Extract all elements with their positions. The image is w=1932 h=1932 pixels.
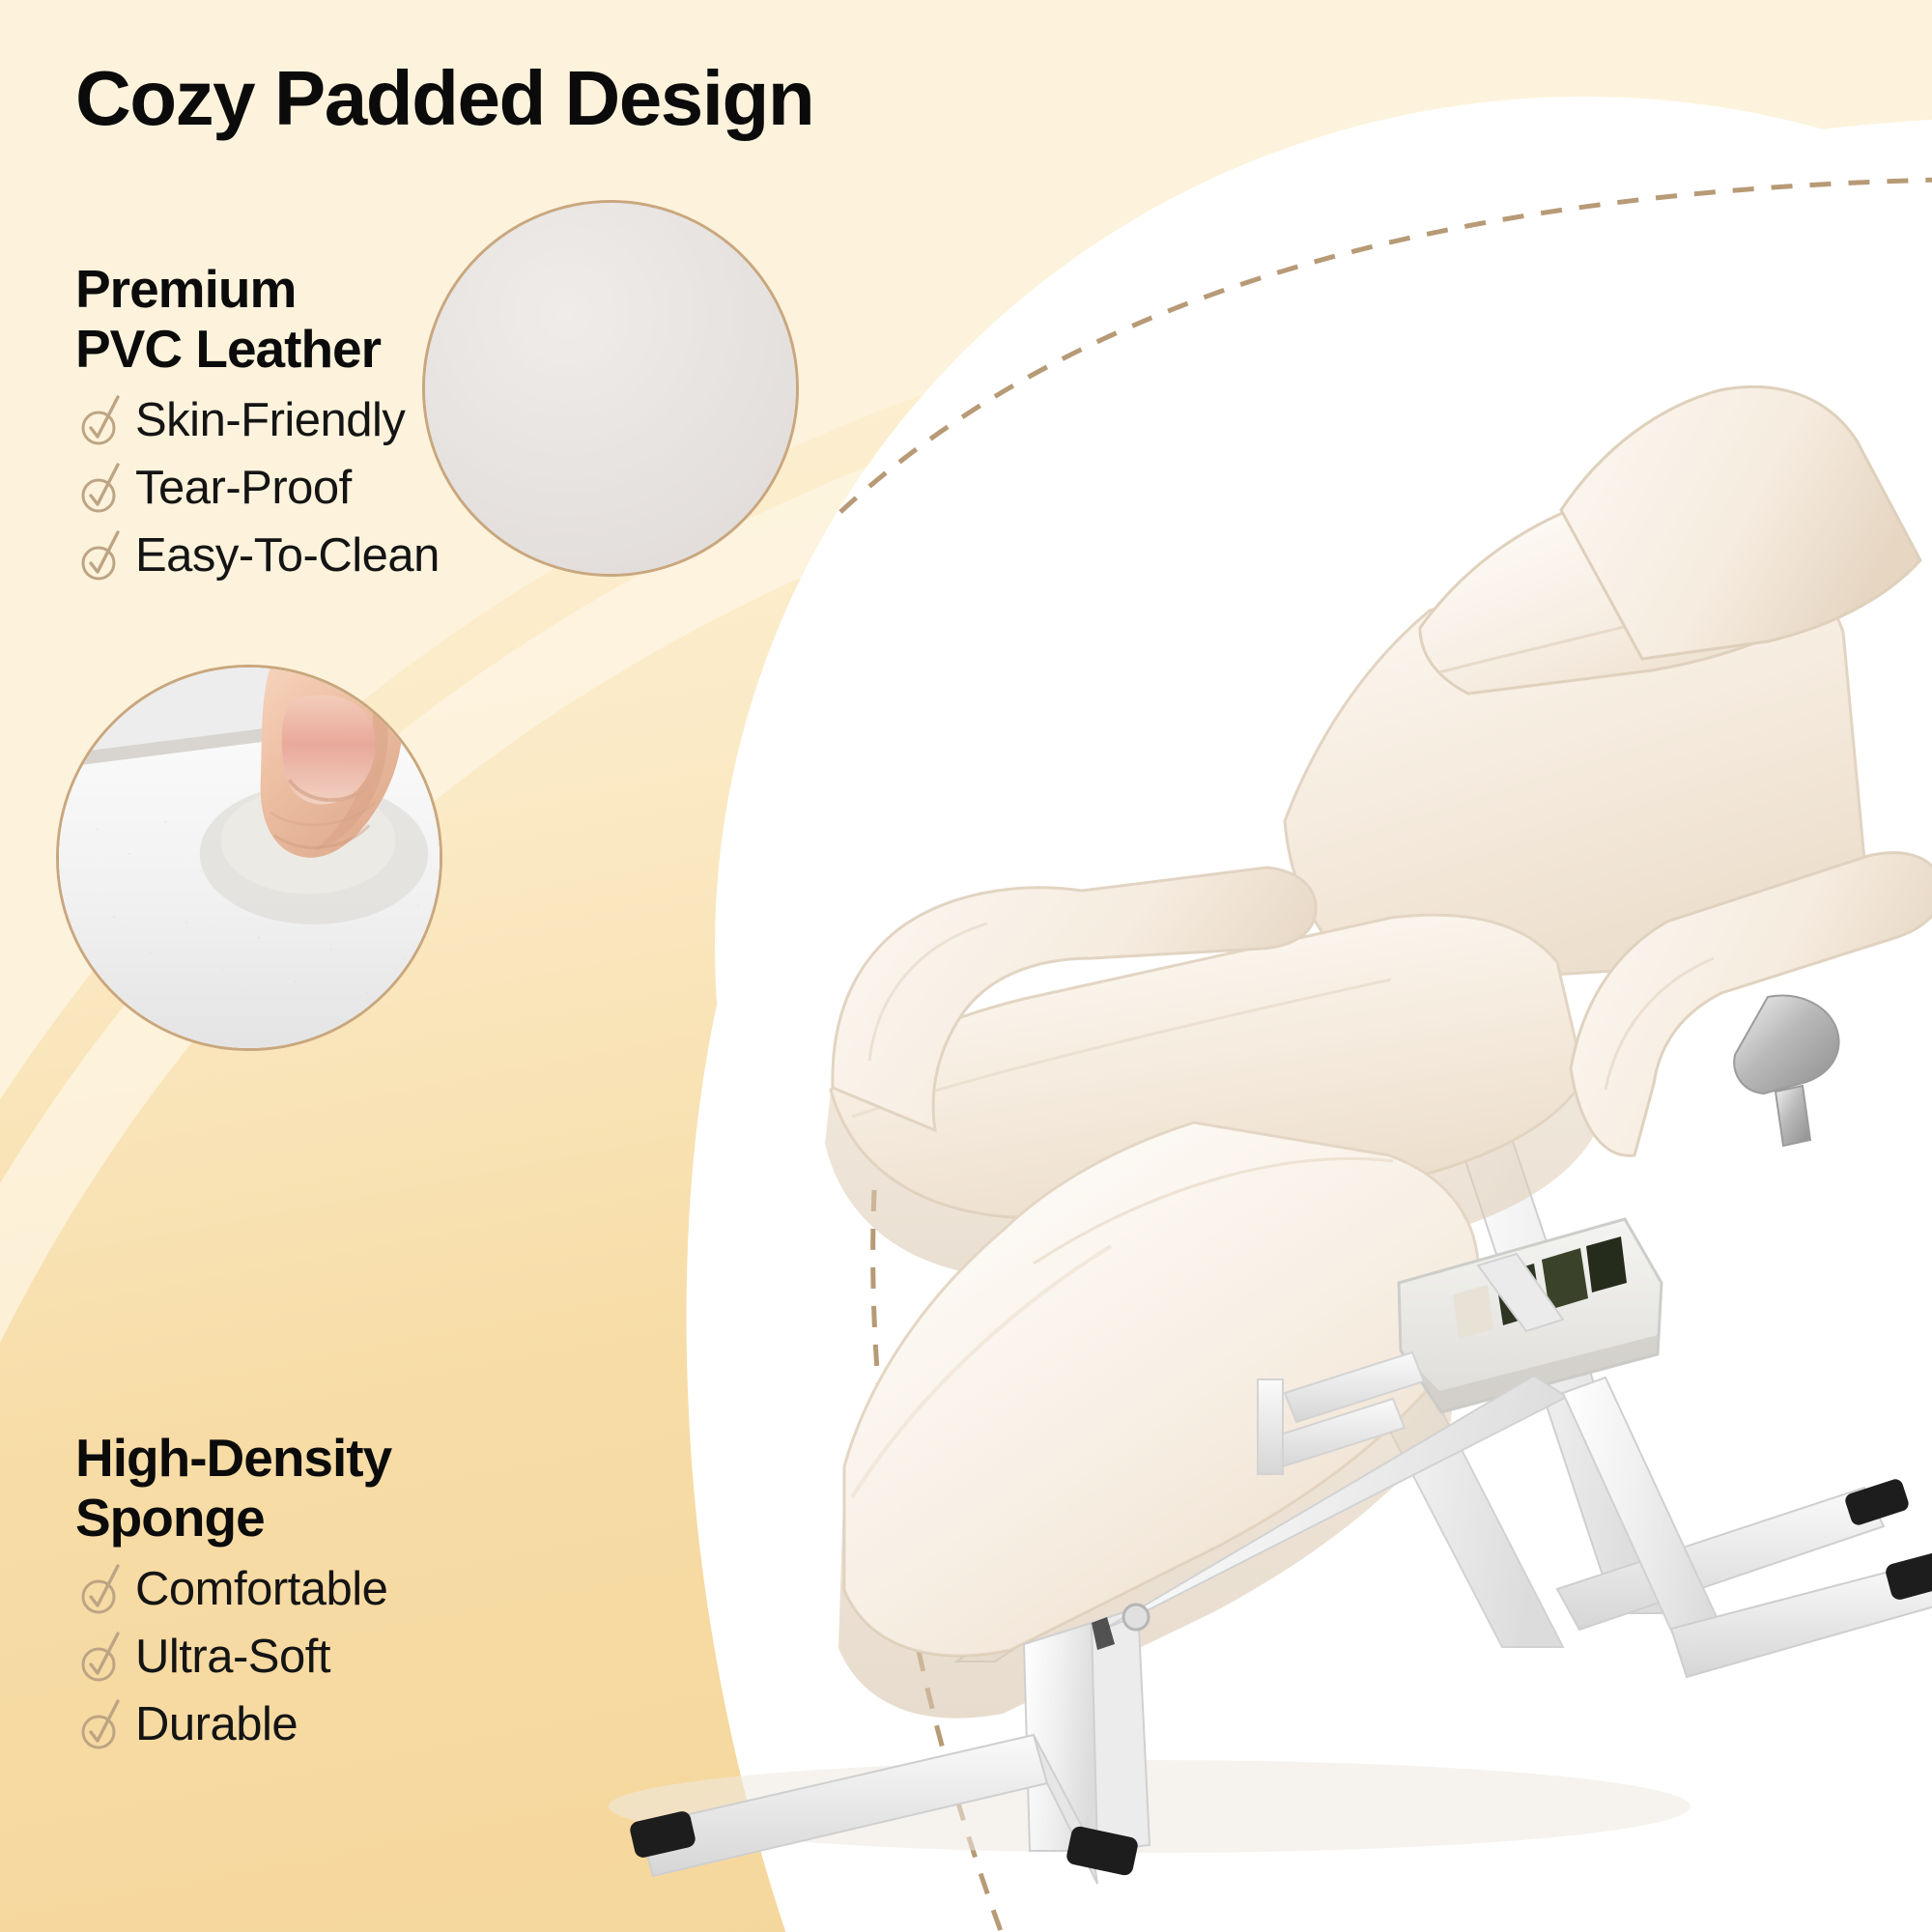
feature-block-title: High-Density Sponge xyxy=(75,1428,391,1548)
feature-list: Skin-Friendly Tear-Proof Easy-To-Clean xyxy=(75,392,440,583)
check-circle-icon xyxy=(75,1630,126,1684)
feature-block-title: Premium PVC Leather xyxy=(75,259,440,379)
sponge-press-circle xyxy=(56,665,442,1051)
feature-item: Skin-Friendly xyxy=(75,392,440,448)
feature-label: Tear-Proof xyxy=(135,465,352,512)
feature-label: Ultra-Soft xyxy=(135,1634,330,1681)
feature-item: Tear-Proof xyxy=(75,460,440,516)
feature-item: Durable xyxy=(75,1696,391,1752)
page-title: Cozy Padded Design xyxy=(75,58,813,139)
feature-label: Easy-To-Clean xyxy=(135,532,440,580)
feature-label: Comfortable xyxy=(135,1566,387,1613)
pvc-leather-texture xyxy=(425,203,796,574)
pvc-leather-swatch-circle xyxy=(422,200,799,577)
feature-item: Ultra-Soft xyxy=(75,1629,391,1685)
feature-item: Easy-To-Clean xyxy=(75,527,440,583)
check-circle-icon xyxy=(75,528,126,582)
feature-block-high-density-sponge: High-Density Sponge Comfortable Ultra-So… xyxy=(75,1428,391,1764)
feature-item: Comfortable xyxy=(75,1561,391,1617)
check-circle-icon xyxy=(75,1697,126,1751)
check-circle-icon xyxy=(75,461,126,515)
check-circle-icon xyxy=(75,393,126,447)
feature-list: Comfortable Ultra-Soft Durable xyxy=(75,1561,391,1752)
finger-pressing-sponge-illustration xyxy=(59,668,440,1048)
infographic-canvas: Cozy Padded Design Premium PVC Leather S… xyxy=(0,0,1932,1932)
feature-label: Skin-Friendly xyxy=(135,397,405,444)
feature-block-pvc-leather: Premium PVC Leather Skin-Friendly Tear-P… xyxy=(75,259,440,595)
check-circle-icon xyxy=(75,1562,126,1616)
feature-label: Durable xyxy=(135,1701,298,1748)
